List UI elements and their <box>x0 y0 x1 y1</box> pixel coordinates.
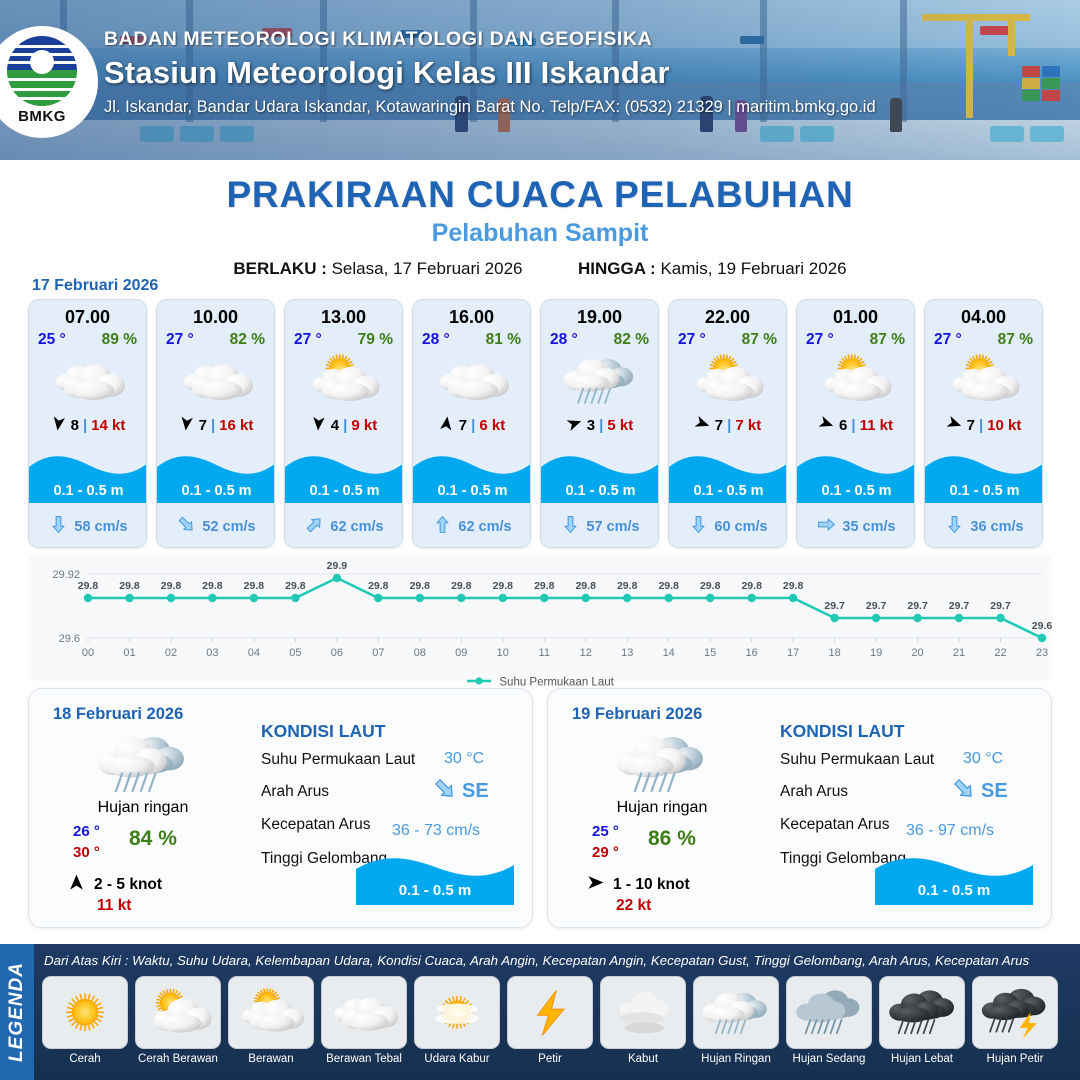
card-temperature: 28 ° <box>422 331 450 349</box>
legenda-section: LEGENDA Dari Atas Kiri : Waktu, Suhu Uda… <box>0 944 1080 1080</box>
svg-text:23: 23 <box>1036 647 1048 659</box>
legenda-item-label: Hujan Lebat <box>879 1053 965 1065</box>
legenda-item-label: Berawan Tebal <box>321 1053 407 1065</box>
svg-text:29.7: 29.7 <box>949 600 970 612</box>
current-direction-arrow-icon <box>433 777 457 806</box>
wind-separator: | <box>83 417 87 434</box>
card-temperature: 27 ° <box>806 331 834 349</box>
hourly-forecast-row: 07.0025 °89 %8|14 kt0.1 - 0.5 m58 cm/s10… <box>28 299 1052 548</box>
panel-current-speed-value: 36 - 97 cm/s <box>906 822 994 840</box>
svg-text:29.92: 29.92 <box>52 569 80 581</box>
card-temperature: 28 ° <box>550 331 578 349</box>
card-humidity: 79 % <box>358 331 393 349</box>
panel-current-dir-row: SE <box>433 777 489 806</box>
card-humidity: 87 % <box>998 331 1033 349</box>
berlaku-value: Selasa, 17 Februari 2026 <box>332 259 523 278</box>
legenda-item-label: Hujan Ringan <box>693 1053 779 1065</box>
wind-separator: | <box>599 417 603 434</box>
card-temperature: 27 ° <box>934 331 962 349</box>
wind-speed-value: 7 <box>967 417 975 434</box>
panel-current-speed-label: Kecepatan Arus <box>261 816 370 834</box>
weather-fog-icon <box>600 976 686 1049</box>
weather-rain-light-icon <box>693 976 779 1049</box>
forecast-date-label: 17 Februari 2026 <box>32 277 158 295</box>
panel-wind-row: 2 - 5 knot <box>67 873 162 897</box>
panel-current-speed-value: 36 - 73 cm/s <box>392 822 480 840</box>
gust-value: 16 kt <box>219 417 253 434</box>
daily-forecast-panel[interactable]: 19 Februari 2026Hujan ringan25 °29 °86 %… <box>547 688 1052 928</box>
svg-text:29.8: 29.8 <box>617 580 638 592</box>
legenda-item-label: Kabut <box>600 1053 686 1065</box>
svg-text:21: 21 <box>953 647 965 659</box>
wave-height-value: 0.1 - 0.5 m <box>669 483 787 499</box>
card-wind-row: 8|14 kt <box>29 415 146 436</box>
card-temp-hum: 27 °87 % <box>797 328 914 349</box>
svg-text:15: 15 <box>704 647 716 659</box>
card-wind-row: 3|5 kt <box>541 415 658 436</box>
card-time: 13.00 <box>285 300 402 328</box>
panel-gust: 22 kt <box>616 897 651 915</box>
svg-text:14: 14 <box>663 647 675 659</box>
card-temp-hum: 27 °87 % <box>925 328 1042 349</box>
card-time: 01.00 <box>797 300 914 328</box>
current-direction-arrow-icon <box>305 515 324 538</box>
current-speed-value: 58 cm/s <box>74 519 127 535</box>
forecast-card[interactable]: 01.0027 °87 %6|11 kt0.1 - 0.5 m35 cm/s <box>796 299 915 548</box>
card-time: 19.00 <box>541 300 658 328</box>
weather-partly-sunny-icon <box>797 351 914 411</box>
wind-direction-arrow-icon <box>586 873 605 897</box>
wind-separator: | <box>979 417 983 434</box>
panel-humidity: 84 % <box>129 827 177 851</box>
current-direction-arrow-icon <box>49 515 68 538</box>
wave-height-value: 0.1 - 0.5 m <box>413 483 531 499</box>
panel-sst-value: 30 °C <box>444 750 484 768</box>
wind-speed-value: 3 <box>587 417 595 434</box>
legenda-item: Petir <box>507 976 593 1065</box>
station-address: Jl. Iskandar, Bandar Udara Iskandar, Kot… <box>104 98 1004 117</box>
forecast-card[interactable]: 10.0027 °82 %7|16 kt0.1 - 0.5 m52 cm/s <box>156 299 275 548</box>
wave-height-value: 0.1 - 0.5 m <box>29 483 147 499</box>
forecast-card[interactable]: 13.0027 °79 %4|9 kt0.1 - 0.5 m62 cm/s <box>284 299 403 548</box>
svg-text:29.8: 29.8 <box>244 580 265 592</box>
card-temperature: 27 ° <box>678 331 706 349</box>
weather-rain-icon <box>541 351 658 411</box>
weather-partly-sunny-icon <box>285 351 402 411</box>
gust-value: 6 kt <box>479 417 505 434</box>
weather-cloudy-icon <box>29 351 146 411</box>
panel-humidity: 86 % <box>648 827 696 851</box>
panel-sea-title: KONDISI LAUT <box>780 721 904 742</box>
daily-forecast-panels: 18 Februari 2026Hujan ringan26 °30 °84 %… <box>28 688 1052 928</box>
svg-text:29.8: 29.8 <box>534 580 555 592</box>
panel-temp-min: 26 ° <box>73 823 100 840</box>
panel-date: 18 Februari 2026 <box>53 705 183 724</box>
card-time: 22.00 <box>669 300 786 328</box>
svg-text:29.6: 29.6 <box>59 633 80 645</box>
card-temp-hum: 28 °82 % <box>541 328 658 349</box>
hingga-label: HINGGA : <box>578 259 656 278</box>
svg-text:29.8: 29.8 <box>493 580 514 592</box>
svg-text:29.8: 29.8 <box>741 580 762 592</box>
wind-direction-arrow-icon <box>178 415 195 436</box>
legenda-item: Hujan Petir <box>972 976 1058 1065</box>
legenda-item-label: Udara Kabur <box>414 1053 500 1065</box>
wind-direction-arrow-icon <box>50 415 67 436</box>
svg-text:09: 09 <box>455 647 467 659</box>
wind-direction-arrow-icon <box>310 415 327 436</box>
wind-direction-arrow-icon <box>694 415 711 436</box>
panel-current-dir-label: Arah Arus <box>780 783 848 801</box>
card-current-row: 62 cm/s <box>285 515 403 538</box>
card-current-row: 35 cm/s <box>797 515 915 538</box>
panel-sea-title: KONDISI LAUT <box>261 721 385 742</box>
svg-text:05: 05 <box>289 647 301 659</box>
wind-speed-value: 7 <box>459 417 467 434</box>
svg-text:08: 08 <box>414 647 426 659</box>
legenda-item: Cerah Berawan <box>135 976 221 1065</box>
card-temp-hum: 25 °89 % <box>29 328 146 349</box>
bmkg-logo-text: BMKG <box>3 108 81 125</box>
legenda-item: Hujan Sedang <box>786 976 872 1065</box>
panel-sst-value: 30 °C <box>963 750 1003 768</box>
svg-text:29.6: 29.6 <box>1032 620 1052 632</box>
legenda-item: Berawan <box>228 976 314 1065</box>
current-speed-value: 62 cm/s <box>330 519 383 535</box>
panel-current-speed-label: Kecepatan Arus <box>780 816 889 834</box>
svg-text:29.8: 29.8 <box>161 580 182 592</box>
wind-speed-value: 7 <box>715 417 723 434</box>
wind-separator: | <box>471 417 475 434</box>
legenda-item-label: Hujan Petir <box>972 1053 1058 1065</box>
page-title: PRAKIRAAN CUACA PELABUHAN <box>0 174 1080 216</box>
current-speed-value: 52 cm/s <box>202 519 255 535</box>
daily-forecast-panel[interactable]: 18 Februari 2026Hujan ringan26 °30 °84 %… <box>28 688 533 928</box>
svg-text:19: 19 <box>870 647 882 659</box>
panel-temp-max: 29 ° <box>592 844 619 861</box>
wind-separator: | <box>727 417 731 434</box>
svg-text:29.8: 29.8 <box>202 580 223 592</box>
panel-current-dir-label: Arah Arus <box>261 783 329 801</box>
legenda-item-label: Cerah <box>42 1053 128 1065</box>
station-name: Stasiun Meteorologi Kelas III Iskandar <box>104 55 1004 91</box>
legenda-item-label: Berawan <box>228 1053 314 1065</box>
panel-date: 19 Februari 2026 <box>572 705 702 724</box>
card-humidity: 81 % <box>486 331 521 349</box>
svg-text:20: 20 <box>911 647 923 659</box>
forecast-card[interactable]: 19.0028 °82 %3|5 kt0.1 - 0.5 m57 cm/s <box>540 299 659 548</box>
legenda-item: Udara Kabur <box>414 976 500 1065</box>
validity-row: BERLAKU : Selasa, 17 Februari 2026 HINGG… <box>0 259 1080 279</box>
svg-text:13: 13 <box>621 647 633 659</box>
card-temperature: 25 ° <box>38 331 66 349</box>
svg-text:29.7: 29.7 <box>990 600 1011 612</box>
panel-wind-row: 1 - 10 knot <box>586 873 690 897</box>
card-humidity: 82 % <box>614 331 649 349</box>
card-temperature: 27 ° <box>294 331 322 349</box>
legenda-item: Cerah <box>42 976 128 1065</box>
wind-separator: | <box>851 417 855 434</box>
card-current-row: 52 cm/s <box>157 515 275 538</box>
weather-partly-sunny-icon <box>228 976 314 1049</box>
forecast-card[interactable]: 16.0028 °81 %7|6 kt0.1 - 0.5 m62 cm/s <box>412 299 531 548</box>
current-speed-value: 62 cm/s <box>458 519 511 535</box>
weather-lightning-icon <box>507 976 593 1049</box>
card-current-row: 62 cm/s <box>413 515 531 538</box>
card-wind-row: 7|7 kt <box>669 415 786 436</box>
svg-text:29.8: 29.8 <box>78 580 99 592</box>
weather-rain-storm-icon <box>972 976 1058 1049</box>
header-text-block: BADAN METEOROLOGI KLIMATOLOGI DAN GEOFIS… <box>104 28 1004 117</box>
svg-text:29.7: 29.7 <box>907 600 928 612</box>
weather-cloudy-icon <box>413 351 530 411</box>
weather-partly-sunny-icon <box>669 351 786 411</box>
svg-text:22: 22 <box>994 647 1006 659</box>
wind-direction-arrow-icon <box>438 415 455 436</box>
legenda-item-label: Cerah Berawan <box>135 1053 221 1065</box>
card-wind-row: 7|10 kt <box>925 415 1042 436</box>
card-wind-row: 7|6 kt <box>413 415 530 436</box>
card-temp-hum: 28 °81 % <box>413 328 530 349</box>
card-temp-hum: 27 °82 % <box>157 328 274 349</box>
forecast-card[interactable]: 04.0027 °87 %7|10 kt0.1 - 0.5 m36 cm/s <box>924 299 1043 548</box>
title-block: PRAKIRAAN CUACA PELABUHAN Pelabuhan Samp… <box>0 160 1080 279</box>
card-temperature: 27 ° <box>166 331 194 349</box>
card-time: 04.00 <box>925 300 1042 328</box>
card-time: 16.00 <box>413 300 530 328</box>
svg-text:03: 03 <box>206 647 218 659</box>
legenda-item: Kabut <box>600 976 686 1065</box>
card-current-row: 60 cm/s <box>669 515 787 538</box>
chart-legend-label: Suhu Permukaan Laut <box>499 677 613 689</box>
current-direction-arrow-icon <box>689 515 708 538</box>
panel-wave-value: 0.1 - 0.5 m <box>356 882 514 899</box>
legenda-tab-label: LEGENDA <box>6 962 28 1062</box>
svg-text:29.8: 29.8 <box>700 580 721 592</box>
sst-chart: 29.9229.60001020304050607080910111213141… <box>28 556 1052 681</box>
panel-sst-label: Suhu Permukaan Laut <box>261 751 415 769</box>
legenda-item-label: Hujan Sedang <box>786 1053 872 1065</box>
svg-text:06: 06 <box>331 647 343 659</box>
panel-wind-speed: 2 - 5 knot <box>94 876 162 894</box>
bmkg-logo-mark <box>7 36 77 106</box>
weather-cloudy-icon <box>157 351 274 411</box>
svg-text:29.9: 29.9 <box>327 560 348 572</box>
panel-temp-min: 25 ° <box>592 823 619 840</box>
wave-height-value: 0.1 - 0.5 m <box>541 483 659 499</box>
wind-separator: | <box>343 417 347 434</box>
svg-text:07: 07 <box>372 647 384 659</box>
card-wind-row: 7|16 kt <box>157 415 274 436</box>
svg-text:29.8: 29.8 <box>368 580 389 592</box>
svg-text:02: 02 <box>165 647 177 659</box>
card-temp-hum: 27 °87 % <box>669 328 786 349</box>
forecast-card[interactable]: 22.0027 °87 %7|7 kt0.1 - 0.5 m60 cm/s <box>668 299 787 548</box>
panel-temp-max: 30 ° <box>73 844 100 861</box>
svg-text:29.7: 29.7 <box>824 600 845 612</box>
wind-speed-value: 4 <box>331 417 339 434</box>
svg-text:29.8: 29.8 <box>783 580 804 592</box>
weather-rain-icon <box>91 727 195 806</box>
weather-haze-icon <box>414 976 500 1049</box>
forecast-card[interactable]: 07.0025 °89 %8|14 kt0.1 - 0.5 m58 cm/s <box>28 299 147 548</box>
legenda-item: Hujan Lebat <box>879 976 965 1065</box>
gust-value: 11 kt <box>860 417 893 434</box>
current-direction-arrow-icon <box>945 515 964 538</box>
gust-value: 14 kt <box>91 417 125 434</box>
weather-rain-icon <box>610 727 714 806</box>
weather-partly-sunny-icon <box>925 351 1042 411</box>
panel-current-dir-row: SE <box>952 777 1008 806</box>
current-speed-value: 60 cm/s <box>714 519 767 535</box>
card-current-row: 57 cm/s <box>541 515 659 538</box>
panel-gust: 11 kt <box>97 897 131 915</box>
wave-height-value: 0.1 - 0.5 m <box>797 483 915 499</box>
weather-rain-heavy-icon <box>879 976 965 1049</box>
weather-rain-mod-icon <box>786 976 872 1049</box>
weather-sun-icon <box>42 976 128 1049</box>
svg-text:10: 10 <box>497 647 509 659</box>
current-speed-value: 57 cm/s <box>586 519 639 535</box>
legenda-tab: LEGENDA <box>0 944 34 1080</box>
wind-speed-value: 7 <box>199 417 207 434</box>
page-subtitle: Pelabuhan Sampit <box>0 219 1080 248</box>
wind-direction-arrow-icon <box>67 873 86 897</box>
panel-wind-speed: 1 - 10 knot <box>613 876 690 894</box>
weather-cloudy-icon <box>321 976 407 1049</box>
svg-text:29.8: 29.8 <box>575 580 596 592</box>
wind-direction-arrow-icon <box>566 415 583 436</box>
card-humidity: 87 % <box>742 331 777 349</box>
legenda-items: CerahCerah BerawanBerawanBerawan TebalUd… <box>42 976 1074 1065</box>
card-time: 10.00 <box>157 300 274 328</box>
card-current-row: 36 cm/s <box>925 515 1043 538</box>
wave-height-value: 0.1 - 0.5 m <box>157 483 275 499</box>
wave-height-value: 0.1 - 0.5 m <box>925 483 1043 499</box>
wind-speed-value: 6 <box>839 417 847 434</box>
gust-value: 7 kt <box>735 417 761 434</box>
card-temp-hum: 27 °79 % <box>285 328 402 349</box>
legenda-item-label: Petir <box>507 1053 593 1065</box>
panel-wave-value: 0.1 - 0.5 m <box>875 882 1033 899</box>
wind-speed-value: 8 <box>71 417 79 434</box>
panel-sst-label: Suhu Permukaan Laut <box>780 751 934 769</box>
card-wind-row: 6|11 kt <box>797 415 914 436</box>
svg-text:01: 01 <box>123 647 135 659</box>
wind-direction-arrow-icon <box>818 415 835 436</box>
svg-text:29.8: 29.8 <box>410 580 431 592</box>
current-direction-arrow-icon <box>433 515 452 538</box>
card-wind-row: 4|9 kt <box>285 415 402 436</box>
panel-condition: Hujan ringan <box>562 799 762 817</box>
svg-text:11: 11 <box>539 647 550 659</box>
gust-value: 10 kt <box>987 417 1021 434</box>
current-direction-arrow-icon <box>177 515 196 538</box>
legenda-item: Hujan Ringan <box>693 976 779 1065</box>
card-current-row: 58 cm/s <box>29 515 147 538</box>
current-direction-arrow-icon <box>817 515 836 538</box>
svg-text:29.7: 29.7 <box>866 600 887 612</box>
hingga-value: Kamis, 19 Februari 2026 <box>660 259 846 278</box>
wind-direction-arrow-icon <box>946 415 963 436</box>
svg-text:04: 04 <box>248 647 260 659</box>
weather-sun-cloud-icon <box>135 976 221 1049</box>
svg-text:29.8: 29.8 <box>451 580 472 592</box>
current-direction-arrow-icon <box>952 777 976 806</box>
svg-text:12: 12 <box>580 647 592 659</box>
svg-text:29.8: 29.8 <box>119 580 140 592</box>
card-humidity: 89 % <box>102 331 137 349</box>
wave-height-value: 0.1 - 0.5 m <box>285 483 403 499</box>
card-time: 07.00 <box>29 300 146 328</box>
wind-separator: | <box>211 417 215 434</box>
agency-name: BADAN METEOROLOGI KLIMATOLOGI DAN GEOFIS… <box>104 28 1004 51</box>
gust-value: 5 kt <box>607 417 633 434</box>
current-speed-value: 36 cm/s <box>970 519 1023 535</box>
legenda-item: Berawan Tebal <box>321 976 407 1065</box>
panel-current-dir-value: SE <box>981 780 1008 803</box>
svg-text:16: 16 <box>746 647 758 659</box>
panel-current-dir-value: SE <box>462 780 489 803</box>
berlaku-label: BERLAKU : <box>233 259 327 278</box>
svg-text:18: 18 <box>828 647 840 659</box>
sst-chart-svg: 29.9229.60001020304050607080910111213141… <box>28 556 1052 681</box>
svg-text:17: 17 <box>787 647 799 659</box>
svg-text:29.8: 29.8 <box>285 580 306 592</box>
card-humidity: 82 % <box>230 331 265 349</box>
page-header: BMKG BADAN METEOROLOGI KLIMATOLOGI DAN G… <box>0 0 1080 160</box>
legenda-note: Dari Atas Kiri : Waktu, Suhu Udara, Kele… <box>44 953 1074 968</box>
current-direction-arrow-icon <box>561 515 580 538</box>
current-speed-value: 35 cm/s <box>842 519 895 535</box>
card-humidity: 87 % <box>870 331 905 349</box>
svg-text:00: 00 <box>82 647 94 659</box>
panel-condition: Hujan ringan <box>43 799 243 817</box>
svg-text:29.8: 29.8 <box>658 580 679 592</box>
gust-value: 9 kt <box>351 417 377 434</box>
infographic-root: BMKG BADAN METEOROLOGI KLIMATOLOGI DAN G… <box>0 0 1080 1080</box>
